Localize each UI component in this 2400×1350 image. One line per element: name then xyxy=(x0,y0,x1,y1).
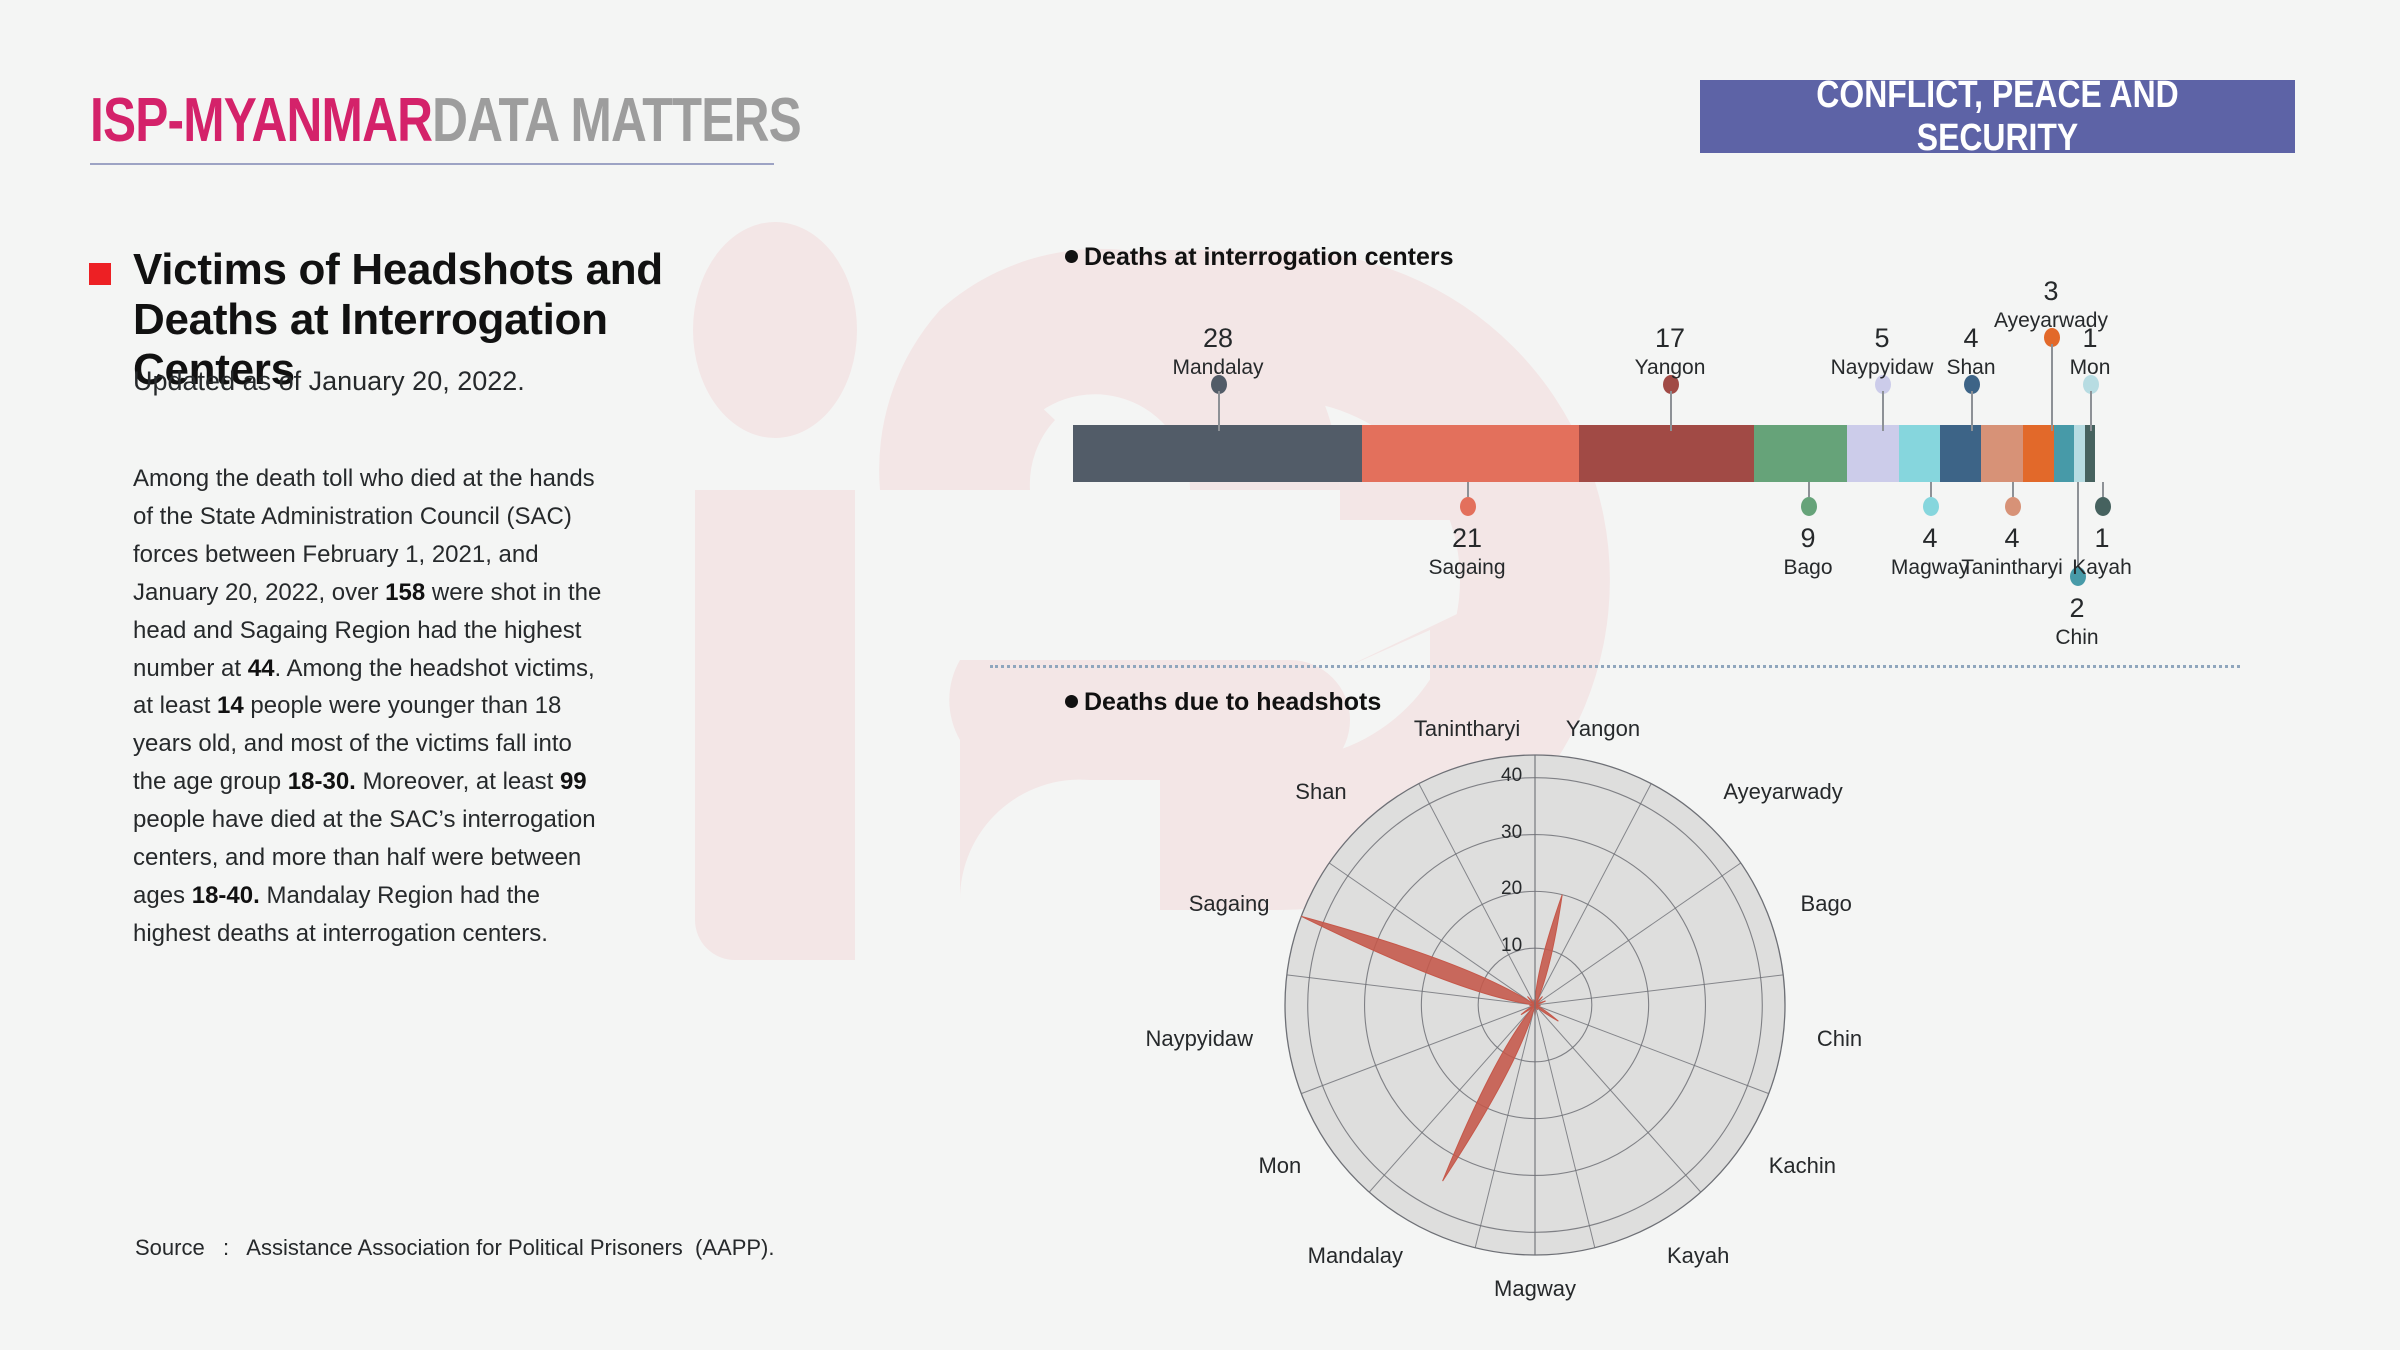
radar-tick-40: 40 xyxy=(1501,765,1522,787)
pin-value: 3 xyxy=(1951,278,2151,305)
pin-knob-icon xyxy=(1801,497,1817,516)
bullet-dot-icon xyxy=(1065,250,1078,263)
pin-stem xyxy=(1670,391,1672,431)
radar-label-kachin: Kachin xyxy=(1769,1153,1836,1179)
pin-name: Yangon xyxy=(1570,357,1770,378)
pin-value: 1 xyxy=(2002,525,2202,552)
bar-segment-chin xyxy=(2054,425,2075,482)
pin-name: Chin xyxy=(1977,627,2177,648)
bar-segment-shan xyxy=(1940,425,1981,482)
pin-knob-icon xyxy=(1460,497,1476,516)
pin-value: 28 xyxy=(1118,325,1318,352)
stacked-bar-chart xyxy=(1073,425,2095,482)
radar-tick-10: 10 xyxy=(1501,935,1522,957)
bar-segment-naypyidaw xyxy=(1847,425,1899,482)
section-divider xyxy=(990,665,2240,668)
pin-stem xyxy=(1971,391,1973,431)
bar-segment-magway xyxy=(1899,425,1940,482)
radar-label-naypyidaw: Naypyidaw xyxy=(1145,1026,1253,1052)
pin-knob-icon xyxy=(2095,497,2111,516)
pin-name: Mandalay xyxy=(1118,357,1318,378)
pin-stem xyxy=(1882,391,1884,431)
polar-radar-chart: 10203040YangonAyeyarwadyBagoChinKachinKa… xyxy=(1225,715,1845,1315)
pin-name: Sagaing xyxy=(1367,557,1567,578)
radar-tick-30: 30 xyxy=(1501,822,1522,844)
pin-value: 2 xyxy=(1977,595,2177,622)
pin-stem xyxy=(2102,482,2104,497)
source-note: Source : Assistance Association for Poli… xyxy=(135,1235,774,1261)
pin-knob-icon xyxy=(1923,497,1939,516)
category-banner-label: CONFLICT, PEACE AND SECURITY xyxy=(1748,74,2248,160)
pin-stem xyxy=(2012,482,2014,497)
radar-label-ayeyarwady: Ayeyarwady xyxy=(1723,779,1842,805)
body-paragraph: Among the death toll who died at the han… xyxy=(133,460,603,953)
pin-value: 21 xyxy=(1367,525,1567,552)
page-subtitle: Updated as of January 20, 2022. xyxy=(133,366,525,397)
radar-label-tanintharyi: Tanintharyi xyxy=(1414,716,1520,742)
header-rule xyxy=(90,163,774,165)
bar-segment-bago xyxy=(1754,425,1847,482)
category-banner: CONFLICT, PEACE AND SECURITY xyxy=(1700,80,2295,153)
brand-logo: ISP-MYANMARDATA MATTERS xyxy=(90,90,801,152)
bar-segment-mon xyxy=(2074,425,2084,482)
brand-logo-secondary: DATA MATTERS xyxy=(432,86,801,155)
pin-stem xyxy=(1808,482,1810,497)
bar-segment-kayah xyxy=(2085,425,2095,482)
bar-segment-ayeyarwady xyxy=(2023,425,2054,482)
radar-tick-20: 20 xyxy=(1501,878,1522,900)
section-label-interrogation-text: Deaths at interrogation centers xyxy=(1084,243,1454,271)
pin-value: 1 xyxy=(1990,325,2190,352)
radar-label-kayah: Kayah xyxy=(1667,1243,1729,1269)
pin-stem xyxy=(1218,391,1220,431)
radar-label-yangon: Yangon xyxy=(1566,716,1640,742)
bar-segment-yangon xyxy=(1579,425,1754,482)
infographic-page: ISP-MYANMARDATA MATTERS CONFLICT, PEACE … xyxy=(0,0,2400,1350)
radar-label-chin: Chin xyxy=(1817,1026,1862,1052)
radar-label-mandalay: Mandalay xyxy=(1308,1243,1403,1269)
pin-name: Kayah xyxy=(2002,557,2202,578)
pin-stem xyxy=(1930,482,1932,497)
title-bullet-icon xyxy=(89,263,111,285)
radar-label-bago: Bago xyxy=(1801,891,1852,917)
section-label-headshots-text: Deaths due to headshots xyxy=(1084,688,1381,716)
bar-segment-sagaing xyxy=(1362,425,1579,482)
radar-label-sagaing: Sagaing xyxy=(1189,891,1270,917)
bar-segment-mandalay xyxy=(1073,425,1362,482)
pin-stem xyxy=(1467,482,1469,497)
bar-segment-tanintharyi xyxy=(1981,425,2022,482)
section-label-interrogation: Deaths at interrogation centers xyxy=(1065,243,1454,272)
section-label-headshots: Deaths due to headshots xyxy=(1065,688,1381,717)
pin-value: 17 xyxy=(1570,325,1770,352)
pin-knob-icon xyxy=(2005,497,2021,516)
pin-stem xyxy=(2090,391,2092,431)
pin-name: Mon xyxy=(1990,357,2190,378)
radar-label-shan: Shan xyxy=(1295,779,1346,805)
bullet-dot-icon xyxy=(1065,695,1078,708)
radar-label-magway: Magway xyxy=(1494,1276,1576,1302)
radar-label-mon: Mon xyxy=(1258,1153,1301,1179)
brand-logo-primary: ISP-MYANMAR xyxy=(90,86,432,155)
